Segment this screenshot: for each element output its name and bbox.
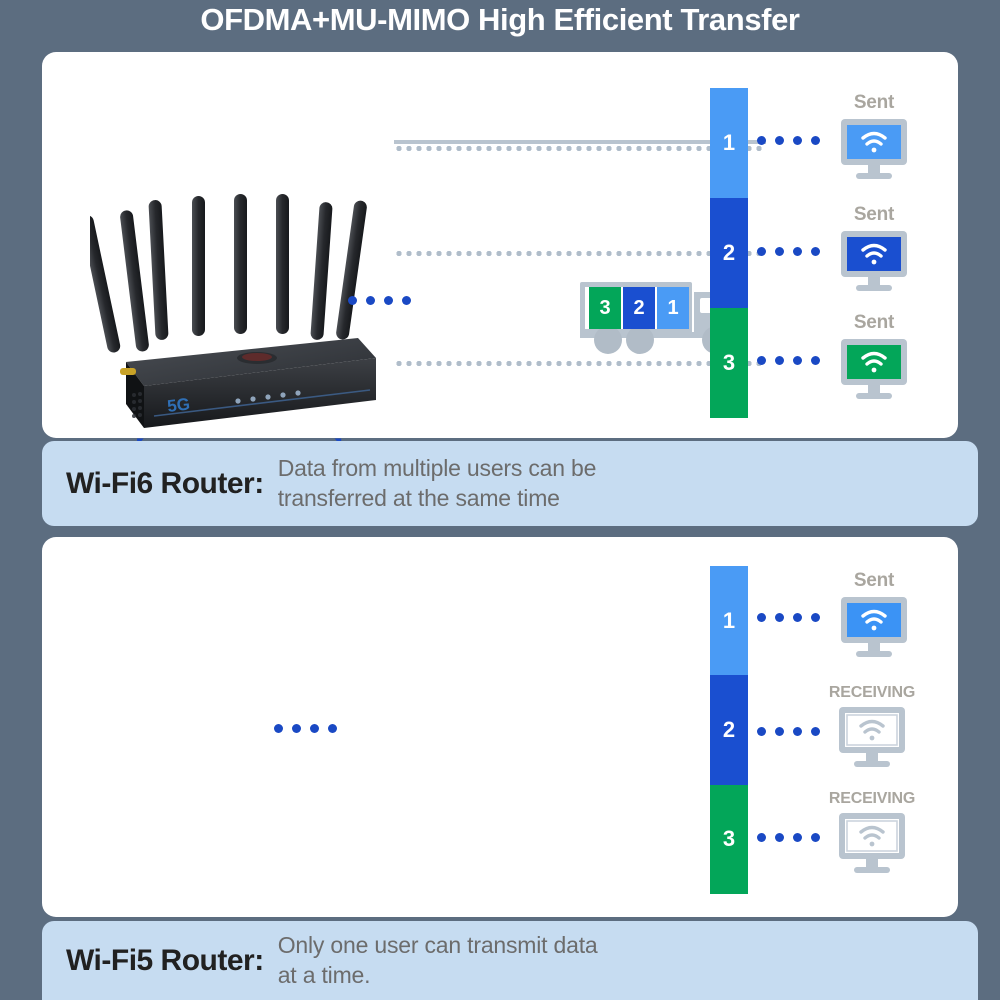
monitor-icon bbox=[836, 337, 912, 408]
station-status: Sent bbox=[814, 570, 934, 592]
channel-segment-3: 3 bbox=[710, 308, 748, 418]
station-top-2: Sent bbox=[814, 204, 934, 300]
channel-2-dots bbox=[757, 247, 820, 256]
monitor-icon bbox=[834, 705, 910, 776]
station-status: RECEIVING bbox=[812, 684, 932, 702]
monitor-icon bbox=[836, 595, 912, 666]
channel-segment-1: 1 bbox=[710, 88, 748, 198]
monitor-icon bbox=[834, 811, 910, 882]
wifi6-channel-bar: 1 2 3 bbox=[710, 88, 748, 418]
caption-title: Wi-Fi5 Router: bbox=[66, 944, 264, 978]
wifi5-channel-bar: 1 2 3 bbox=[710, 566, 748, 894]
channel-segment-2: 2 bbox=[710, 198, 748, 308]
caption-text: Only one user can transmit data at a tim… bbox=[278, 931, 598, 990]
channel-3-dots bbox=[757, 833, 820, 842]
channel-segment-2: 2 bbox=[710, 675, 748, 784]
caption-line-2: at a time. bbox=[278, 961, 598, 990]
station-status: Sent bbox=[814, 92, 934, 114]
caption-text: Data from multiple users can be transfer… bbox=[278, 454, 597, 513]
caption-title: Wi-Fi6 Router: bbox=[66, 467, 264, 501]
wifi5-caption: Wi-Fi5 Router: Only one user can transmi… bbox=[42, 921, 978, 1000]
station-bottom-1: Sent bbox=[814, 570, 934, 666]
station-status: Sent bbox=[814, 204, 934, 226]
cargo-block: 3 bbox=[589, 287, 621, 329]
station-status: Sent bbox=[814, 312, 934, 334]
station-bottom-2: RECEIVING bbox=[812, 684, 932, 776]
page-title: OFDMA+MU-MIMO High Efficient Transfer bbox=[0, 2, 1000, 38]
cargo-block: 1 bbox=[657, 287, 689, 329]
wifi6-caption: Wi-Fi6 Router: Data from multiple users … bbox=[42, 441, 978, 526]
channel-segment-1: 1 bbox=[710, 566, 748, 675]
station-status: RECEIVING bbox=[812, 790, 932, 808]
channel-3-dots bbox=[757, 356, 820, 365]
channel-segment-3: 3 bbox=[710, 785, 748, 894]
channel-1-dots bbox=[757, 136, 820, 145]
channel-1-dots bbox=[757, 613, 820, 622]
monitor-icon bbox=[836, 229, 912, 300]
station-top-1: Sent bbox=[814, 92, 934, 188]
router-icon: 5G bbox=[90, 190, 380, 430]
channel-2-dots bbox=[757, 727, 820, 736]
device-signal-dots bbox=[274, 724, 337, 733]
monitor-icon bbox=[836, 117, 912, 188]
caption-line-1: Data from multiple users can be bbox=[278, 454, 597, 483]
station-top-3: Sent bbox=[814, 312, 934, 408]
caption-line-2: transferred at the same time bbox=[278, 484, 597, 513]
wifi6-router-image: 5G bbox=[90, 190, 380, 435]
station-bottom-3: RECEIVING bbox=[812, 790, 932, 882]
cargo-block: 2 bbox=[623, 287, 655, 329]
caption-line-1: Only one user can transmit data bbox=[278, 931, 598, 960]
truck-cargo: 3 2 1 bbox=[589, 287, 689, 329]
router-brand-text: 5G bbox=[166, 394, 191, 416]
